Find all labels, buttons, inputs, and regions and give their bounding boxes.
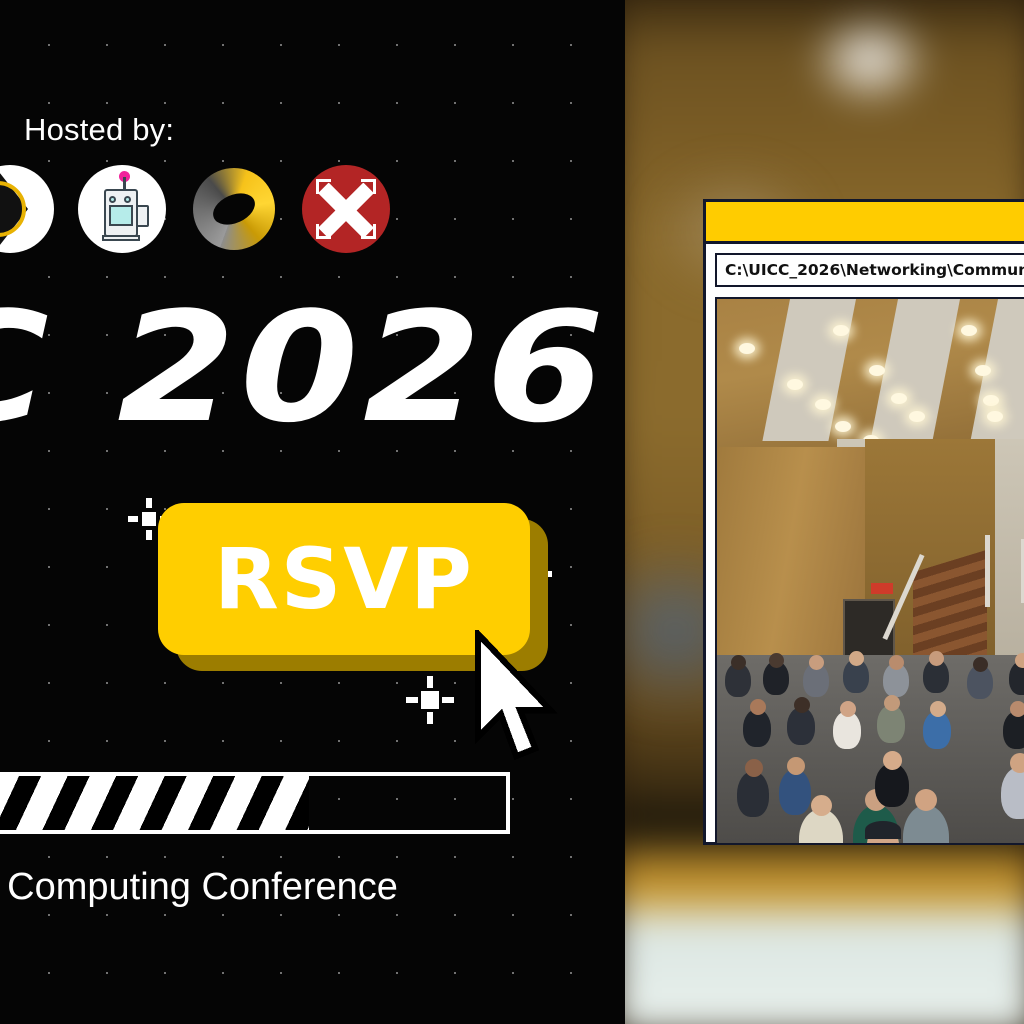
photo-person-head (930, 701, 946, 717)
robot-arm-icon (136, 205, 149, 227)
photo-person-head (884, 695, 900, 711)
photo-person-head (1010, 701, 1024, 717)
photo-person-head (840, 701, 856, 717)
photo-light-8 (909, 411, 925, 422)
photo-person-head (1015, 653, 1024, 668)
acm-chapter-logo[interactable]: m ter (0, 165, 54, 253)
photo-person (779, 769, 811, 815)
photo-light-5 (833, 325, 849, 336)
poster-left-panel: Hosted by: m ter (0, 0, 625, 1024)
photo-light-4 (835, 421, 851, 432)
photo-person-head (731, 655, 746, 670)
photo-exit-sign (871, 583, 893, 594)
footer-subtitle: wa Computing Conference (0, 866, 398, 909)
robot-screen-icon (109, 205, 133, 226)
photo-person (737, 771, 769, 817)
robot-club-logo[interactable] (78, 165, 166, 253)
window-titlebar[interactable] (706, 202, 1024, 244)
robot-eye-right-icon (124, 196, 131, 203)
photo-person-head (973, 657, 988, 672)
path-input-value: C:\UICC_2026\Networking\Community (725, 261, 1024, 279)
robot-foot-icon (102, 235, 140, 241)
poster-canvas: Hosted by: m ter (0, 0, 1024, 1024)
host-logo-row: m ter (0, 165, 390, 253)
photo-person-head (883, 751, 902, 770)
photo-person-head (794, 697, 810, 713)
lecture-hall-photo (715, 297, 1024, 845)
rsvp-button-label: RSVP (214, 530, 474, 628)
photo-audience-seating (717, 655, 1024, 843)
photo-person-foreground-hat (865, 821, 901, 839)
photo-person (1001, 767, 1024, 819)
photo-person-head (1010, 753, 1024, 773)
photo-person-head (929, 651, 944, 666)
progress-bar (0, 772, 510, 834)
poster-right-panel: C:\UICC_2026\Networking\Community (625, 0, 1024, 1024)
photo-person-head (811, 795, 832, 816)
photo-person (903, 805, 949, 845)
photo-person-head (745, 759, 763, 777)
photo-person-head (889, 655, 904, 670)
photo-person (1003, 711, 1024, 749)
photo-light-2 (787, 379, 803, 390)
swoosh-ring-logo[interactable] (190, 165, 278, 253)
photo-person-head (769, 653, 784, 668)
photo-person-head (849, 651, 864, 666)
ring-shape-icon (0, 181, 26, 237)
photo-light-1 (739, 343, 755, 354)
photo-person-head (750, 699, 766, 715)
progress-bar-fill (0, 776, 309, 830)
robot-eye-left-icon (109, 196, 116, 203)
photo-light-3 (815, 399, 831, 410)
sparkle-icon-bottom (406, 676, 454, 724)
window-body: C:\UICC_2026\Networking\Community (706, 244, 1024, 854)
photo-person-head (787, 757, 805, 775)
file-explorer-window[interactable]: C:\UICC_2026\Networking\Community (703, 199, 1024, 845)
photo-light-7 (891, 393, 907, 404)
photo-light-11 (983, 395, 999, 406)
red-x-logo[interactable] (302, 165, 390, 253)
hosted-by-label: Hosted by: (24, 112, 174, 148)
photo-person-head (915, 789, 937, 811)
photo-light-9 (961, 325, 977, 336)
photo-person-head (809, 655, 824, 670)
photo-railing-2 (985, 535, 990, 607)
page-title: C 2026 (0, 292, 609, 444)
photo-light-10 (975, 365, 991, 376)
photo-light-6 (869, 365, 885, 376)
path-input[interactable]: C:\UICC_2026\Networking\Community (715, 253, 1024, 287)
mouse-cursor-icon (470, 630, 570, 760)
photo-light-12 (987, 411, 1003, 422)
